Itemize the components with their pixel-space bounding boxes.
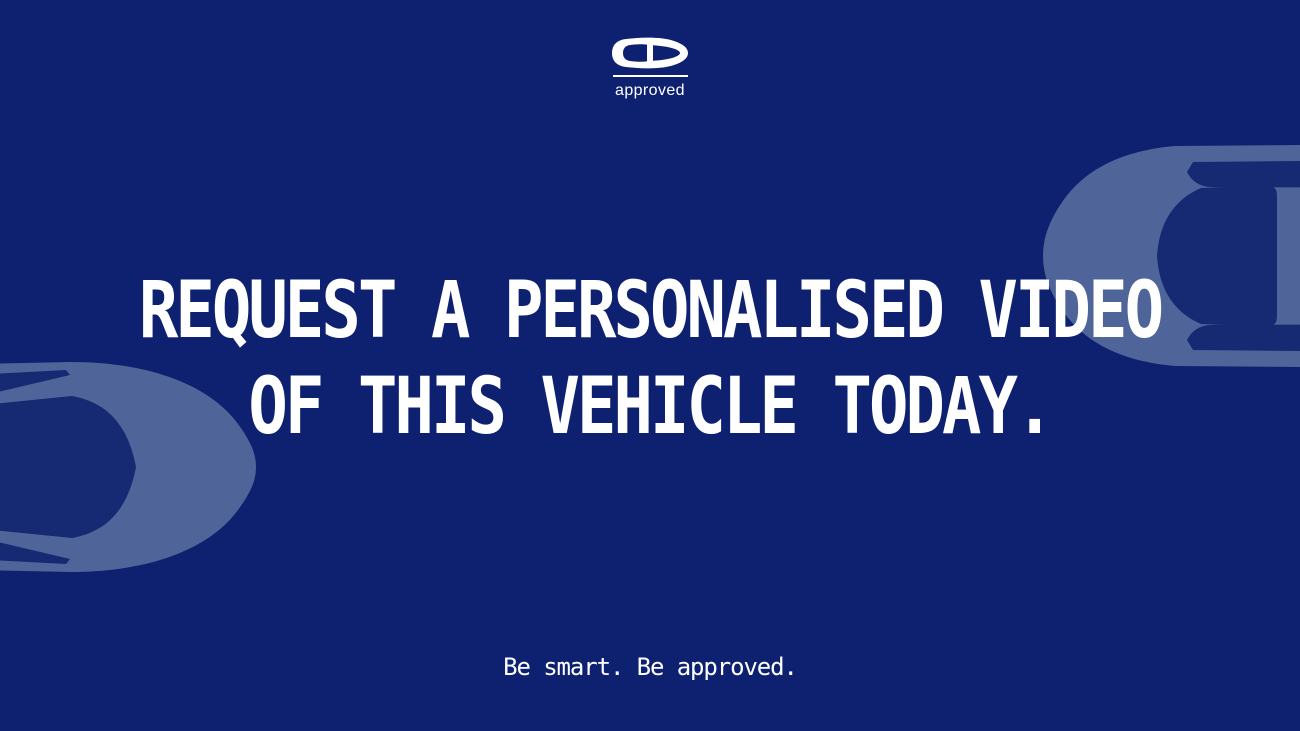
car-top-view-icon [610, 36, 690, 70]
logo-wordmark: approved [615, 81, 685, 100]
headline-line-1: REQUEST A PERSONALISED VIDEO [104, 263, 1196, 359]
tagline: Be smart. Be approved. [0, 652, 1300, 682]
headline-line-2: OF THIS VEHICLE TODAY. [104, 359, 1196, 455]
headline: REQUEST A PERSONALISED VIDEO OF THIS VEH… [0, 263, 1300, 455]
brand-logo: approved [0, 36, 1300, 100]
logo-divider [613, 75, 688, 77]
promo-banner: approved REQUEST A PERSONALISED VIDEO OF… [0, 0, 1300, 731]
